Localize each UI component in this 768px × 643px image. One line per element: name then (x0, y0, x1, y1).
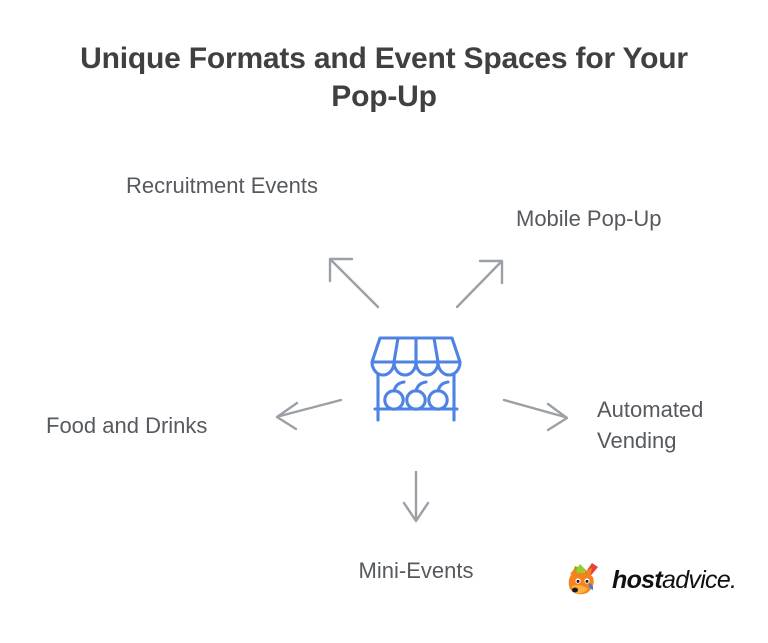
arrow-down (404, 472, 428, 521)
arrow-up-right (457, 261, 502, 307)
logo-text-advice: advice. (662, 566, 736, 594)
node-label-automated-vending: Automated Vending (597, 394, 757, 456)
node-label-mobile-popup: Mobile Pop-Up (516, 203, 726, 234)
page-title: Unique Formats and Event Spaces for Your… (60, 40, 708, 117)
infographic-canvas: Unique Formats and Event Spaces for Your… (0, 0, 768, 643)
arrow-up-left (330, 259, 378, 307)
node-label-food-and-drinks: Food and Drinks (46, 410, 261, 441)
hostadvice-fox-icon (563, 559, 605, 601)
arrow-left (277, 400, 341, 429)
market-stall-icon (358, 316, 474, 432)
arrow-right (504, 400, 567, 430)
node-label-mini-events: Mini-Events (316, 555, 516, 586)
logo-text-host: host (612, 566, 662, 594)
hostadvice-wordmark: hostadvice. (612, 568, 736, 593)
node-label-recruitment: Recruitment Events (118, 170, 318, 201)
hostadvice-logo: hostadvice. (563, 556, 733, 604)
